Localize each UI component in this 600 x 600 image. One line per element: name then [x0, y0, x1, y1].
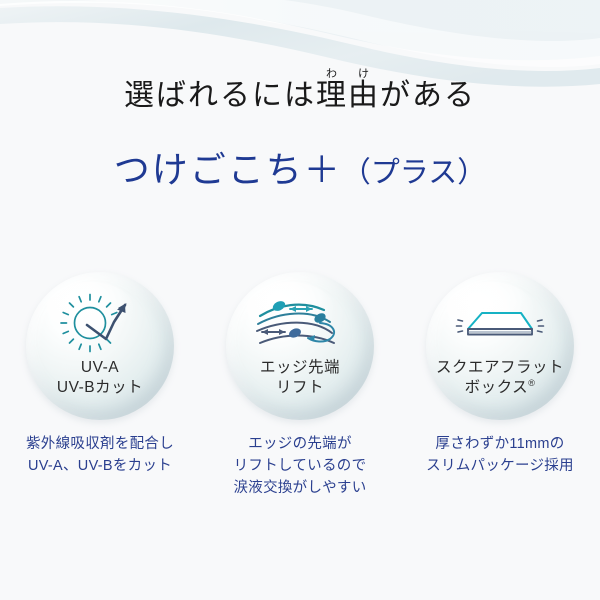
feature-item-flat-box: スクエアフラット ボックス® 厚さわずか11mmの スリムパッケージ採用: [400, 272, 600, 478]
headline-ruby-2: け: [348, 68, 380, 80]
subheadline-container: つけごこち＋（プラス）: [0, 141, 600, 193]
subtitle-reading: （プラス）: [342, 157, 486, 189]
page-subtitle: つけごこち＋（プラス）: [114, 141, 486, 193]
feature-list: UV-A UV-Bカット 紫外線吸収剤を配合し UV-A、UV-Bをカット: [0, 272, 600, 499]
headline-kanji-1: 理: [316, 79, 348, 112]
headline-container: 選ばれるには理わ由けがある: [0, 68, 600, 112]
feature-caption: 厚さわずか11mmの スリムパッケージ採用: [426, 434, 574, 478]
feature-orb: スクエアフラット ボックス®: [426, 272, 574, 420]
uv-sun-block-icon: [57, 294, 143, 352]
edge-lift-flow-icon: [254, 294, 346, 352]
feature-orb-label: エッジ先端 リフト: [260, 358, 340, 398]
headline-segment-1: 選ばれるには: [124, 79, 316, 112]
feature-orb: エッジ先端 リフト: [226, 272, 374, 420]
feature-item-uv-cut: UV-A UV-Bカット 紫外線吸収剤を配合し UV-A、UV-Bをカット: [0, 272, 200, 478]
feature-item-edge-lift: エッジ先端 リフト エッジの先端が リフトしているので 涙液交換がしやすい: [200, 272, 400, 499]
feature-orb-label: UV-A UV-Bカット: [57, 358, 143, 398]
promo-page: 選ばれるには理わ由けがある つけごこち＋（プラス）: [0, 0, 600, 600]
registered-trademark-icon: ®: [528, 378, 535, 388]
subtitle-main: つけごこち＋: [114, 150, 342, 190]
headline-ruby-1: わ: [316, 68, 348, 80]
feature-orb: UV-A UV-Bカット: [26, 272, 174, 420]
headline-segment-2: がある: [380, 79, 476, 112]
square-flat-box-icon: [451, 294, 549, 352]
feature-orb-label: スクエアフラット ボックス®: [436, 358, 564, 398]
page-title: 選ばれるには理わ由けがある: [124, 68, 476, 112]
headline-ruby-group-1: 理わ: [316, 79, 348, 112]
feature-orb-label-text: スクエアフラット ボックス: [436, 359, 564, 396]
feature-caption: 紫外線吸収剤を配合し UV-A、UV-Bをカット: [26, 434, 174, 478]
headline-ruby-group-2: 由け: [348, 79, 380, 112]
feature-caption: エッジの先端が リフトしているので 涙液交換がしやすい: [233, 434, 366, 499]
headline-kanji-2: 由: [348, 79, 380, 112]
